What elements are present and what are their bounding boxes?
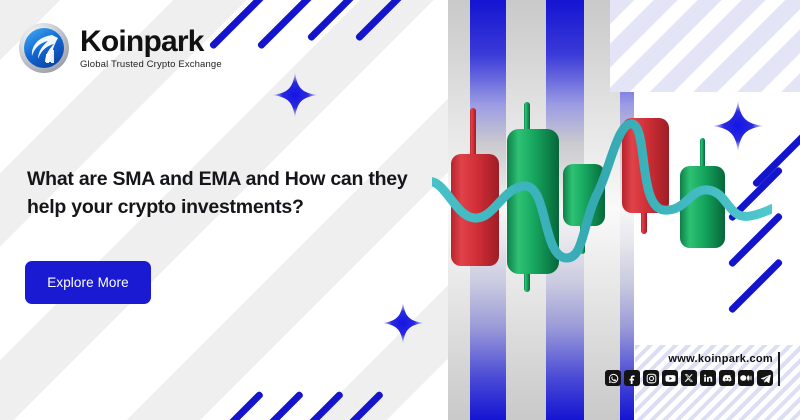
brand-tagline: Global Trusted Crypto Exchange <box>80 59 222 70</box>
candlestick-chart-illustration <box>432 96 772 306</box>
banner-root: Koinpark Global Trusted Crypto Exchange … <box>0 0 800 420</box>
page-title: What are SMA and EMA and How can they he… <box>27 166 417 221</box>
hatch-panel-top-right <box>610 0 800 92</box>
social-links <box>605 370 773 386</box>
linkedin-icon[interactable] <box>700 370 716 386</box>
youtube-icon[interactable] <box>662 370 678 386</box>
whatsapp-icon[interactable] <box>605 370 621 386</box>
sparkle-top-left-icon <box>272 72 318 118</box>
facebook-icon[interactable] <box>624 370 640 386</box>
koinpark-globe-logo-icon <box>18 22 70 74</box>
diagonal-bars-top <box>232 0 432 66</box>
instagram-icon[interactable] <box>643 370 659 386</box>
discord-icon[interactable] <box>719 370 735 386</box>
brand-logo[interactable]: Koinpark Global Trusted Crypto Exchange <box>18 22 222 74</box>
sparkle-bottom-center-icon <box>382 302 424 344</box>
x-twitter-icon[interactable] <box>681 370 697 386</box>
explore-more-button[interactable]: Explore More <box>25 261 151 304</box>
brand-name: Koinpark <box>80 26 222 58</box>
footer-divider <box>778 352 780 386</box>
candle-1 <box>451 108 499 266</box>
diagonal-bars-bottom <box>232 376 392 420</box>
telegram-icon[interactable] <box>757 370 773 386</box>
website-url: www.koinpark.com <box>668 353 773 365</box>
medium-icon[interactable] <box>738 370 754 386</box>
